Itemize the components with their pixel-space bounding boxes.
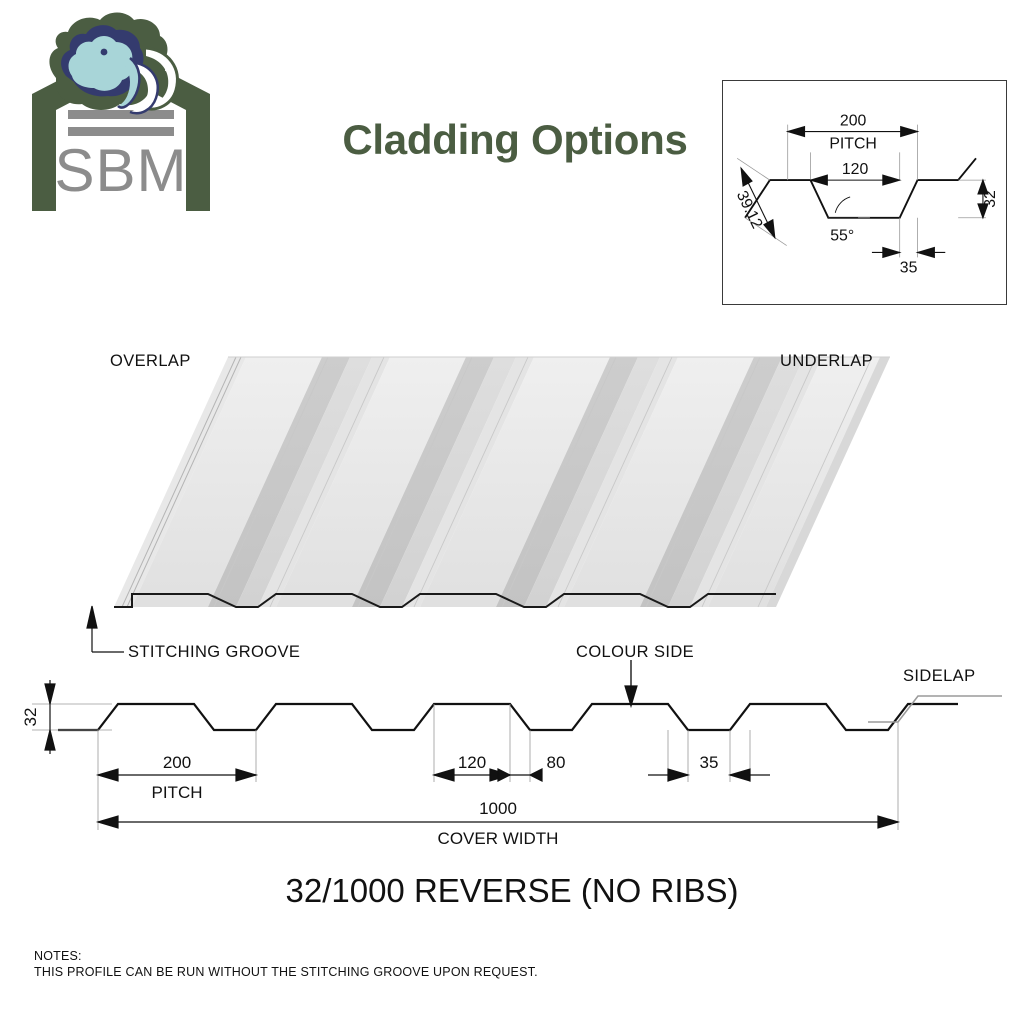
dim-depth-value: 32 <box>21 708 40 727</box>
notes-line-1: THIS PROFILE CAN BE RUN WITHOUT THE STIT… <box>34 964 538 980</box>
dim-crest-value: 120 <box>458 753 486 772</box>
dim-cover-width-value: 1000 <box>479 799 517 818</box>
profile-name: 32/1000 REVERSE (NO RIBS) <box>0 872 1024 910</box>
dim-slope-run <box>498 769 542 781</box>
logo-wordmark: SBM <box>54 137 187 204</box>
section-profile-line <box>58 704 958 730</box>
dim-cover-width-sublabel: COVER WIDTH <box>438 829 559 848</box>
cross-section-view: 32 200 PITCH 120 80 35 <box>12 662 1012 857</box>
sbm-logo: SBM <box>18 6 228 211</box>
page-title: Cladding Options <box>300 116 730 164</box>
mammoth-icon <box>49 13 177 114</box>
dim-depth <box>45 680 55 754</box>
detail-dim-depth: 32 <box>982 190 999 208</box>
dim-valley-value: 35 <box>700 753 719 772</box>
leader-lines <box>0 330 1024 690</box>
profile-detail-box: 200 PITCH 120 32 35 55° <box>722 80 1007 305</box>
detail-dim-crest: 120 <box>842 161 869 178</box>
detail-dim-pitch-sublabel: PITCH <box>829 135 877 152</box>
notes-heading: NOTES: <box>34 948 538 964</box>
logo-bars-icon <box>68 110 174 136</box>
dim-pitch-sublabel: PITCH <box>152 783 203 802</box>
sbm-logo-icon: SBM <box>18 6 228 211</box>
notes-block: NOTES: THIS PROFILE CAN BE RUN WITHOUT T… <box>34 948 538 980</box>
dim-pitch-value: 200 <box>163 753 191 772</box>
cross-section-drawing: 32 200 PITCH 120 80 35 <box>12 662 1012 857</box>
profile-detail-drawing: 200 PITCH 120 32 35 55° <box>723 81 1006 304</box>
detail-dim-pitch: 200 <box>840 113 867 130</box>
detail-dim-valley: 35 <box>900 259 918 276</box>
dim-slope-run-value: 80 <box>547 753 566 772</box>
sidelap-overlap-line <box>868 696 1002 722</box>
detail-dim-angle: 55° <box>830 228 854 245</box>
